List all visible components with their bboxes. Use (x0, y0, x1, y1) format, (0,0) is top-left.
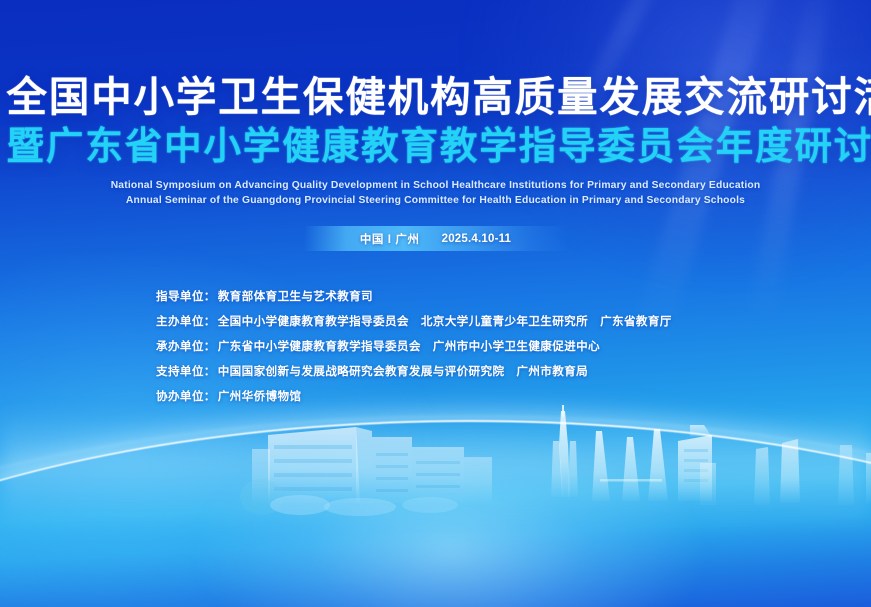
page-title-primary: 全国中小学卫生保健机构高质量发展交流研讨活动 (7, 74, 865, 121)
organizer-row: 协办单位：广州华侨博物馆 (156, 388, 672, 404)
location-text: 中国 I 广州 (360, 231, 420, 247)
organizer-label: 主办单位： (156, 315, 216, 328)
headline-block: 全国中小学卫生保健机构高质量发展交流研讨活动 暨广东省中小学健康教育教学指导委员… (0, 74, 871, 170)
organizer-name: 广州华侨博物馆 (218, 390, 302, 403)
date-text: 2025.4.10-11 (442, 233, 512, 245)
organizer-label: 支持单位： (156, 365, 216, 378)
organizer-row: 指导单位：教育部体育卫生与艺术教育司 (156, 288, 672, 304)
page-title-secondary: 暨广东省中小学健康教育教学指导委员会年度研讨活动 (7, 124, 865, 170)
organizer-row: 承办单位：广东省中小学健康教育教学指导委员会广州市中小学卫生健康促进中心 (156, 338, 672, 354)
subtitle-block: National Symposium on Advancing Quality … (0, 178, 871, 208)
organizer-label: 指导单位： (156, 290, 216, 303)
organizer-label: 承办单位： (156, 340, 216, 353)
organizer-name: 广东省中小学健康教育教学指导委员会 (218, 340, 421, 353)
organizer-row: 主办单位：全国中小学健康教育教学指导委员会北京大学儿童青少年卫生研究所广东省教育… (156, 313, 672, 329)
organizer-name: 中国国家创新与发展战略研究会教育发展与评价研究院 (218, 365, 505, 378)
organizer-name: 北京大学儿童青少年卫生研究所 (421, 315, 588, 328)
organizer-name: 广州市教育局 (516, 365, 588, 378)
subtitle-line-1: National Symposium on Advancing Quality … (0, 178, 871, 193)
organizers-list: 指导单位：教育部体育卫生与艺术教育司主办单位：全国中小学健康教育教学指导委员会北… (156, 288, 672, 404)
organizer-row: 支持单位：中国国家创新与发展战略研究会教育发展与评价研究院广州市教育局 (156, 363, 672, 379)
organizer-name: 广东省教育厅 (600, 315, 672, 328)
organizer-name: 全国中小学健康教育教学指导委员会 (218, 315, 409, 328)
date-location-bar: 中国 I 广州 2025.4.10-11 (304, 226, 568, 251)
date-location-bar-wrap: 中国 I 广州 2025.4.10-11 (0, 226, 871, 251)
organizer-name: 广州市中小学卫生健康促进中心 (433, 340, 600, 353)
organizer-label: 协办单位： (156, 390, 216, 403)
subtitle-line-2: Annual Seminar of the Guangdong Provinci… (0, 193, 871, 208)
conference-poster: 全国中小学卫生保健机构高质量发展交流研讨活动 暨广东省中小学健康教育教学指导委员… (0, 0, 871, 607)
organizer-name: 教育部体育卫生与艺术教育司 (218, 290, 373, 303)
